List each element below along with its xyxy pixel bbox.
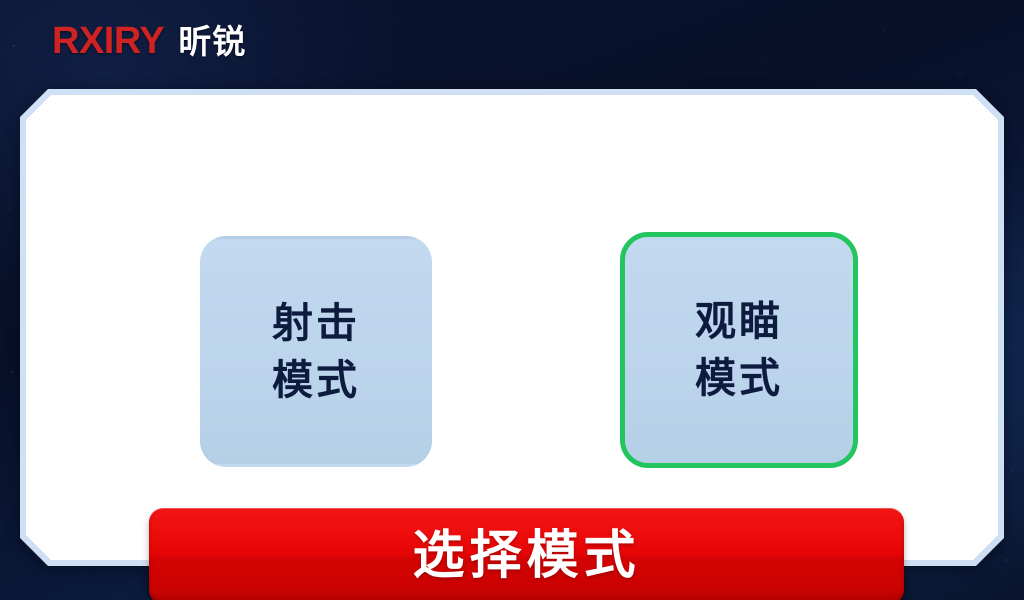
select-mode-button[interactable]: 选择模式 <box>149 508 904 600</box>
panel-content: 射击 模式 观瞄 模式 选择模式 <box>20 89 1004 566</box>
mode-card-observation[interactable]: 观瞄 模式 <box>620 232 858 468</box>
brand-logo: RXIRY 昕锐 <box>52 22 246 60</box>
brand-logo-latin: RXIRY <box>52 22 164 60</box>
select-mode-button-label: 选择模式 <box>412 530 640 582</box>
mode-card-shooting-label: 射击 模式 <box>272 295 360 408</box>
brand-logo-chinese: 昕锐 <box>178 25 246 58</box>
main-panel: 射击 模式 观瞄 模式 选择模式 <box>20 89 1004 566</box>
app-root: RXIRY 昕锐 射击 模式 观瞄 模式 选择模式 <box>0 0 1024 600</box>
mode-card-observation-label: 观瞄 模式 <box>695 293 783 406</box>
mode-card-shooting[interactable]: 射击 模式 <box>200 236 432 467</box>
